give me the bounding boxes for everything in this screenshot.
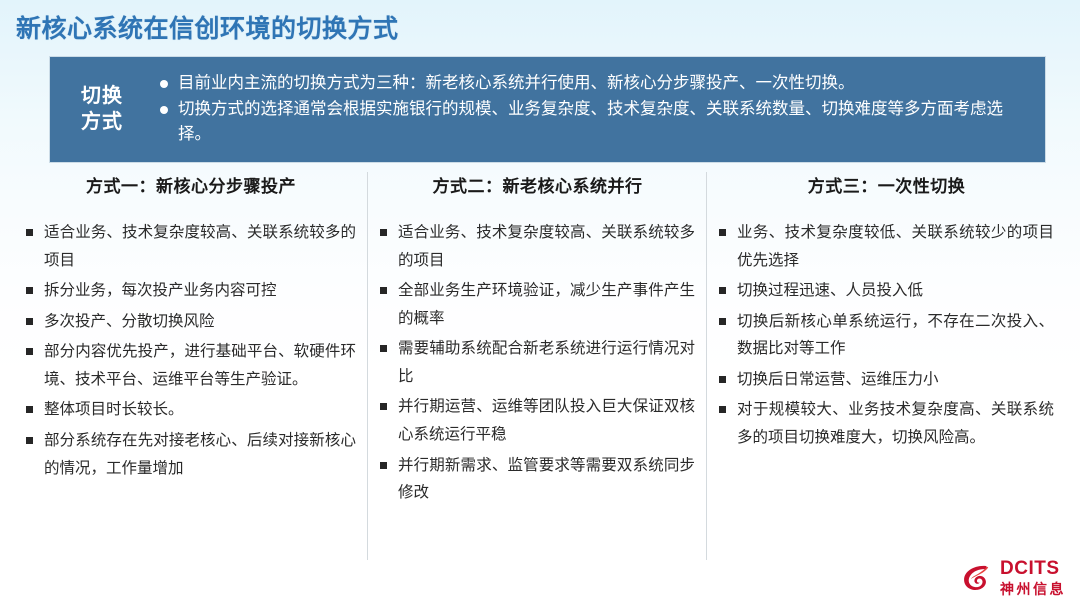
bullet-list: 业务、技术复杂度较低、关联系统较少的项目优先选择 切换过程迅速、人员投入低 切换…	[719, 219, 1054, 452]
bullet-list: 适合业务、技术复杂度较高、关联系统较多的项目 拆分业务，每次投产业务内容可控 多…	[26, 219, 356, 482]
bullet-square-icon	[719, 229, 726, 236]
comparison-columns: 方式一：新核心分步骤投产 适合业务、技术复杂度较高、关联系统较多的项目 拆分业务…	[14, 172, 1066, 562]
list-item-text: 部分内容优先投产，进行基础平台、软硬件环境、技术平台、运维平台等生产验证。	[44, 338, 356, 393]
bullet-square-icon	[380, 403, 387, 410]
list-item: 对于规模较大、业务技术复杂度高、关联系统多的项目切换难度大，切换风险高。	[719, 396, 1054, 451]
list-item: 多次投产、分散切换风险	[26, 308, 356, 336]
bullet-square-icon	[26, 437, 33, 444]
list-item-text: 切换过程迅速、人员投入低	[737, 277, 1054, 305]
list-item-text: 适合业务、技术复杂度较高、关联系统较多的项目	[398, 219, 695, 274]
bullet-square-icon	[380, 229, 387, 236]
bullet-square-icon	[719, 287, 726, 294]
list-item: 全部业务生产环境验证，减少生产事件产生的概率	[380, 277, 695, 332]
column-heading: 方式二：新老核心系统并行	[380, 172, 695, 197]
bullet-square-icon	[26, 229, 33, 236]
bullet-square-icon	[719, 318, 726, 325]
list-item-text: 适合业务、技术复杂度较高、关联系统较多的项目	[44, 219, 356, 274]
list-item: 适合业务、技术复杂度较高、关联系统较多的项目	[380, 219, 695, 274]
summary-bullet-item: 目前业内主流的切换方式为三种：新老核心系统并行使用、新核心分步骤投产、一次性切换…	[160, 71, 1021, 96]
logo-wordmark: DCITS 神州信息	[1000, 559, 1066, 596]
column-heading: 方式三：一次性切换	[719, 172, 1054, 197]
list-item: 切换过程迅速、人员投入低	[719, 277, 1054, 305]
list-item-text: 整体项目时长较长。	[44, 396, 356, 424]
bullet-square-icon	[719, 406, 726, 413]
list-item-text: 全部业务生产环境验证，减少生产事件产生的概率	[398, 277, 695, 332]
list-item: 拆分业务，每次投产业务内容可控	[26, 277, 356, 305]
summary-label-line-2: 方式	[50, 110, 154, 135]
bullet-dot-icon	[160, 80, 168, 88]
summary-panel-label: 切换 方式	[50, 84, 154, 134]
list-item: 切换后新核心单系统运行，不存在二次投入、数据比对等工作	[719, 308, 1054, 363]
summary-bullet-item: 切换方式的选择通常会根据实施银行的规模、业务复杂度、技术复杂度、关联系统数量、切…	[160, 97, 1021, 147]
list-item-text: 业务、技术复杂度较低、关联系统较少的项目优先选择	[737, 219, 1054, 274]
bullet-square-icon	[380, 287, 387, 294]
list-item-text: 多次投产、分散切换风险	[44, 308, 356, 336]
bullet-square-icon	[26, 287, 33, 294]
list-item-text: 部分系统存在先对接老核心、后续对接新核心的情况，工作量增加	[44, 427, 356, 482]
list-item-text: 切换后新核心单系统运行，不存在二次投入、数据比对等工作	[737, 308, 1054, 363]
summary-panel: 切换 方式 目前业内主流的切换方式为三种：新老核心系统并行使用、新核心分步骤投产…	[50, 57, 1045, 162]
list-item: 整体项目时长较长。	[26, 396, 356, 424]
bullet-square-icon	[26, 406, 33, 413]
column-method-three: 方式三：一次性切换 业务、技术复杂度较低、关联系统较少的项目优先选择 切换过程迅…	[707, 172, 1066, 562]
list-item: 需要辅助系统配合新老系统进行运行情况对比	[380, 335, 695, 390]
column-method-two: 方式二：新老核心系统并行 适合业务、技术复杂度较高、关联系统较多的项目 全部业务…	[368, 172, 707, 562]
list-item: 适合业务、技术复杂度较高、关联系统较多的项目	[26, 219, 356, 274]
list-item: 切换后日常运营、运维压力小	[719, 366, 1054, 394]
list-item: 业务、技术复杂度较低、关联系统较少的项目优先选择	[719, 219, 1054, 274]
summary-bullet-list: 目前业内主流的切换方式为三种：新老核心系统并行使用、新核心分步骤投产、一次性切换…	[154, 71, 1045, 148]
bullet-square-icon	[380, 345, 387, 352]
bullet-dot-icon	[160, 106, 168, 114]
bullet-square-icon	[26, 318, 33, 325]
bullet-list: 适合业务、技术复杂度较高、关联系统较多的项目 全部业务生产环境验证，减少生产事件…	[380, 219, 695, 507]
list-item: 部分内容优先投产，进行基础平台、软硬件环境、技术平台、运维平台等生产验证。	[26, 338, 356, 393]
bullet-square-icon	[26, 348, 33, 355]
list-item-text: 对于规模较大、业务技术复杂度高、关联系统多的项目切换难度大，切换风险高。	[737, 396, 1054, 451]
list-item: 并行期运营、运维等团队投入巨大保证双核心系统运行平稳	[380, 393, 695, 448]
list-item-text: 并行期新需求、监管要求等需要双系统同步修改	[398, 452, 695, 507]
logo-cn-text: 神州信息	[1000, 582, 1066, 596]
list-item-text: 拆分业务，每次投产业务内容可控	[44, 277, 356, 305]
summary-bullet-text: 切换方式的选择通常会根据实施银行的规模、业务复杂度、技术复杂度、关联系统数量、切…	[178, 97, 1021, 147]
list-item: 部分系统存在先对接老核心、后续对接新核心的情况，工作量增加	[26, 427, 356, 482]
dcits-swirl-icon	[960, 560, 994, 594]
list-item-text: 切换后日常运营、运维压力小	[737, 366, 1054, 394]
list-item: 并行期新需求、监管要求等需要双系统同步修改	[380, 452, 695, 507]
bullet-square-icon	[380, 462, 387, 469]
bullet-square-icon	[719, 376, 726, 383]
logo-en-text: DCITS	[1000, 559, 1066, 578]
summary-label-line-1: 切换	[50, 84, 154, 109]
list-item-text: 需要辅助系统配合新老系统进行运行情况对比	[398, 335, 695, 390]
summary-bullet-text: 目前业内主流的切换方式为三种：新老核心系统并行使用、新核心分步骤投产、一次性切换…	[178, 71, 1021, 96]
list-item-text: 并行期运营、运维等团队投入巨大保证双核心系统运行平稳	[398, 393, 695, 448]
page-title: 新核心系统在信创环境的切换方式	[16, 9, 399, 45]
company-logo: DCITS 神州信息	[960, 556, 1066, 598]
column-heading: 方式一：新核心分步骤投产	[26, 172, 356, 197]
slide-root: 新核心系统在信创环境的切换方式 切换 方式 目前业内主流的切换方式为三种：新老核…	[0, 0, 1080, 608]
column-method-one: 方式一：新核心分步骤投产 适合业务、技术复杂度较高、关联系统较多的项目 拆分业务…	[14, 172, 368, 562]
